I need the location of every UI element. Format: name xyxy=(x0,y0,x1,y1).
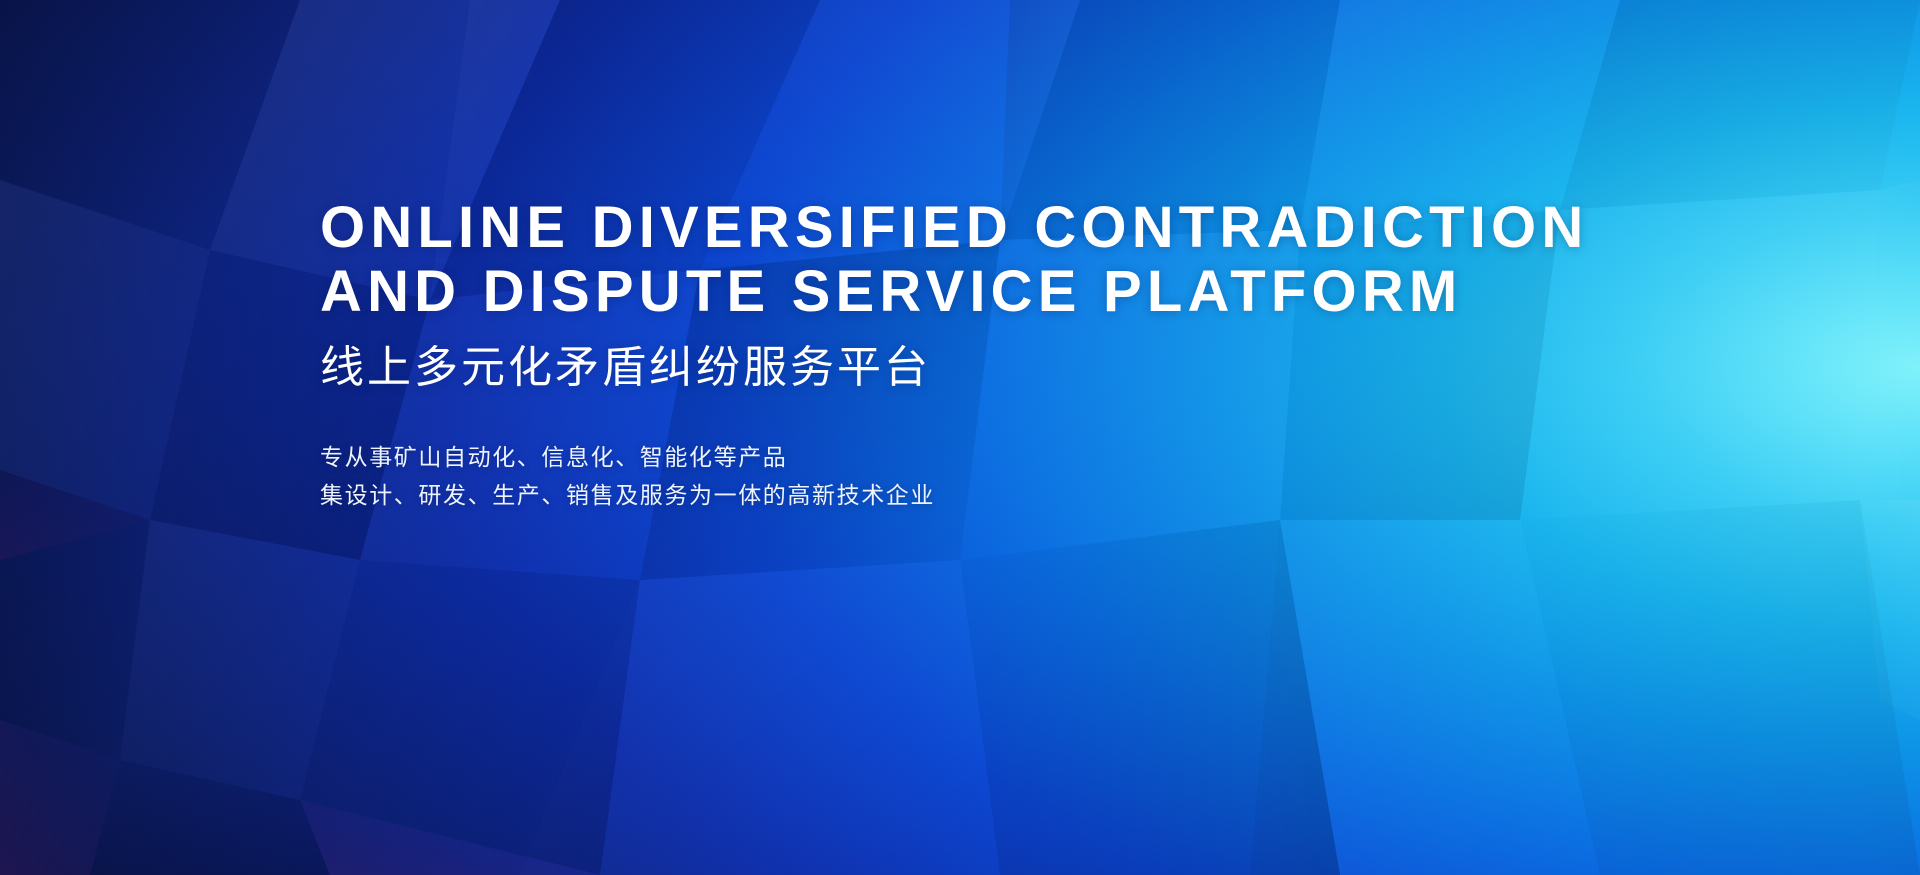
hero-headline-en: ONLINE DIVERSIFIED CONTRADICTION AND DIS… xyxy=(320,196,1720,324)
hero-description-line-2: 集设计、研发、生产、销售及服务为一体的高新技术企业 xyxy=(320,476,1720,514)
hero-subtitle-cn: 线上多元化矛盾纠纷服务平台 xyxy=(320,342,1720,394)
hero-headline-line-1: ONLINE DIVERSIFIED CONTRADICTION xyxy=(320,196,1720,260)
hero-headline-line-2: AND DISPUTE SERVICE PLATFORM xyxy=(320,260,1720,324)
hero-content: ONLINE DIVERSIFIED CONTRADICTION AND DIS… xyxy=(320,196,1720,514)
hero-description-line-1: 专从事矿山自动化、信息化、智能化等产品 xyxy=(320,438,1720,476)
hero-description: 专从事矿山自动化、信息化、智能化等产品 集设计、研发、生产、销售及服务为一体的高… xyxy=(320,438,1720,514)
hero-banner: ONLINE DIVERSIFIED CONTRADICTION AND DIS… xyxy=(0,0,1920,875)
